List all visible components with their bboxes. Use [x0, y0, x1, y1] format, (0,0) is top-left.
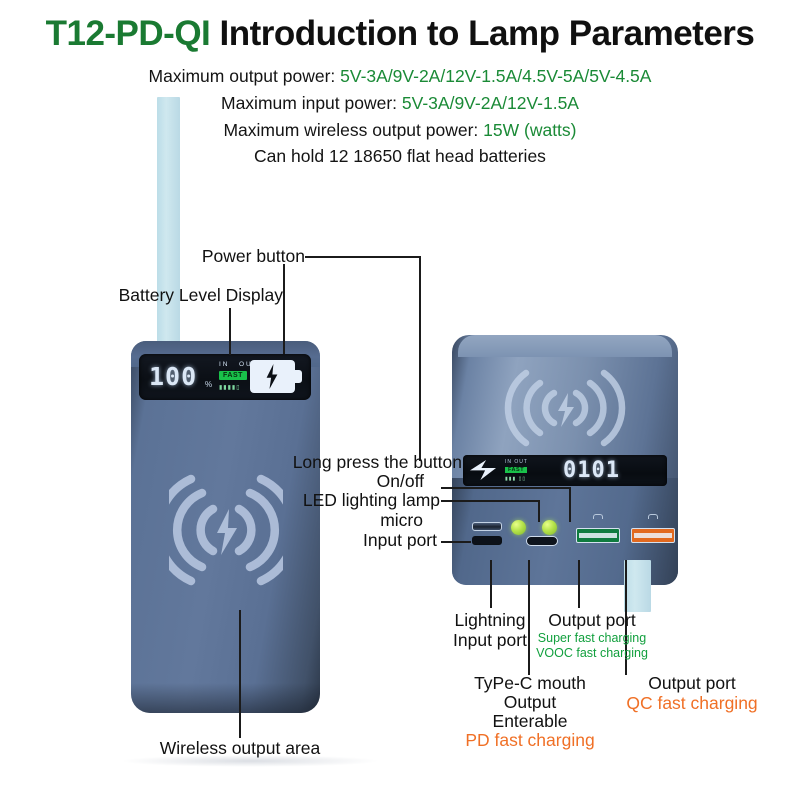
left-battery-digits: 100 [149, 362, 197, 391]
label-typec-mouth: TyPe-C mouth [452, 673, 608, 693]
leader-output-green [578, 560, 580, 608]
leader-micro-h [441, 541, 471, 543]
left-percent-symbol: % [205, 380, 212, 389]
right-top-face [458, 335, 672, 357]
label-micro-line2: Input port [0, 530, 437, 550]
left-bottom-shade [131, 683, 320, 713]
right-mini-bars: ▮▮▮ ▯▯ [505, 476, 526, 482]
leader-led2 [569, 487, 571, 522]
leader-power-button-h [305, 256, 420, 258]
left-display-panel: 100 % IN OUT FAST ▮▮▮▮▯ [139, 354, 311, 400]
right-tiny-label: IN OUT [505, 459, 528, 465]
label-qc-fast-charging: QC fast charging [612, 693, 772, 713]
led-lamp-1[interactable] [511, 520, 526, 535]
usb-green-notch [593, 514, 603, 519]
led-lamp-2[interactable] [542, 520, 557, 535]
spec-value: 5V-3A/9V-2A/12V-1.5A [402, 93, 579, 113]
spec-label: Maximum wireless output power: [223, 120, 483, 140]
usb-c-port[interactable] [526, 536, 558, 546]
left-fast-badge: FAST [219, 371, 247, 380]
leader-wireless-area [239, 610, 241, 738]
leader-power-button-v [419, 256, 421, 461]
left-mini-bars: ▮▮▮▮▯ [219, 384, 241, 391]
leader-led2-h [441, 487, 570, 489]
label-typec-output: Output [452, 692, 608, 712]
left-in-out-label: IN [219, 361, 230, 368]
page-title: T12-PD-QI Introduction to Lamp Parameter… [0, 14, 800, 54]
label-led-lighting-lamp: LED lighting lamp [0, 490, 440, 510]
leader-battery-level [229, 308, 231, 355]
battery-icon [250, 360, 302, 393]
label-output-port-green: Output port [536, 610, 648, 630]
label-pd-fast-charging: PD fast charging [444, 730, 616, 750]
usb-orange-notch [648, 514, 658, 519]
bottom-shadow [120, 755, 380, 767]
usb-a-green-port[interactable] [576, 528, 620, 543]
spec-label: Can hold 12 18650 flat head batteries [254, 146, 546, 166]
title-rest: Introduction to Lamp Parameters [210, 14, 754, 53]
right-display-digits: 0101 [563, 458, 620, 483]
leader-lightning [490, 560, 492, 608]
label-battery-level-display: Battery Level Display [0, 285, 283, 305]
port-cluster [466, 520, 666, 554]
right-bolt-icon [470, 460, 496, 480]
leader-led-lamp-v [538, 500, 540, 522]
label-long-press-line1: Long press the button [0, 452, 462, 472]
spec-line-input-power: Maximum input power: 5V-3A/9V-2A/12V-1.5… [0, 93, 800, 114]
label-vooc-fast-charging: VOOC fast charging [536, 646, 648, 661]
label-typec-enterable: Enterable [452, 711, 608, 731]
title-model: T12-PD-QI [46, 14, 211, 53]
spec-label: Maximum input power: [221, 93, 402, 113]
spec-value: 5V-3A/9V-2A/12V-1.5A/4.5V-5A/5V-4.5A [340, 66, 651, 86]
lightning-port[interactable] [472, 536, 502, 545]
spec-label: Maximum output power: [149, 66, 341, 86]
label-lightning-line2: Input port [440, 630, 540, 650]
label-micro-line1: micro [0, 510, 423, 530]
wireless-charging-icon-right [494, 365, 636, 451]
right-display-panel: IN OUT FAST ▮▮▮ ▯▯ 0101 [463, 455, 667, 486]
spec-value: 15W (watts) [483, 120, 576, 140]
label-lightning-line1: Lightning [440, 610, 540, 630]
right-fast-badge: FAST [505, 467, 527, 473]
lanyard-strap-right [624, 560, 651, 612]
spec-line-output-power: Maximum output power: 5V-3A/9V-2A/12V-1.… [0, 66, 800, 87]
spec-line-wireless-power: Maximum wireless output power: 15W (watt… [0, 120, 800, 141]
infographic-canvas: T12-PD-QI Introduction to Lamp Parameter… [0, 0, 800, 800]
power-bank-right: IN OUT FAST ▮▮▮ ▯▯ 0101 [452, 335, 678, 585]
label-super-fast-charging: Super fast charging [536, 631, 648, 646]
lanyard-strap-left [157, 97, 180, 345]
label-long-press-line2: On/off [0, 471, 424, 491]
label-output-port-qc: Output port [612, 673, 772, 693]
label-power-button: Power button [0, 246, 305, 266]
usb-a-orange-port[interactable] [631, 528, 675, 543]
micro-usb-port[interactable] [472, 522, 502, 531]
spec-line-battery-capacity: Can hold 12 18650 flat head batteries [0, 146, 800, 167]
leader-power-button-drop [283, 264, 285, 354]
leader-led-lamp-h [441, 500, 539, 502]
